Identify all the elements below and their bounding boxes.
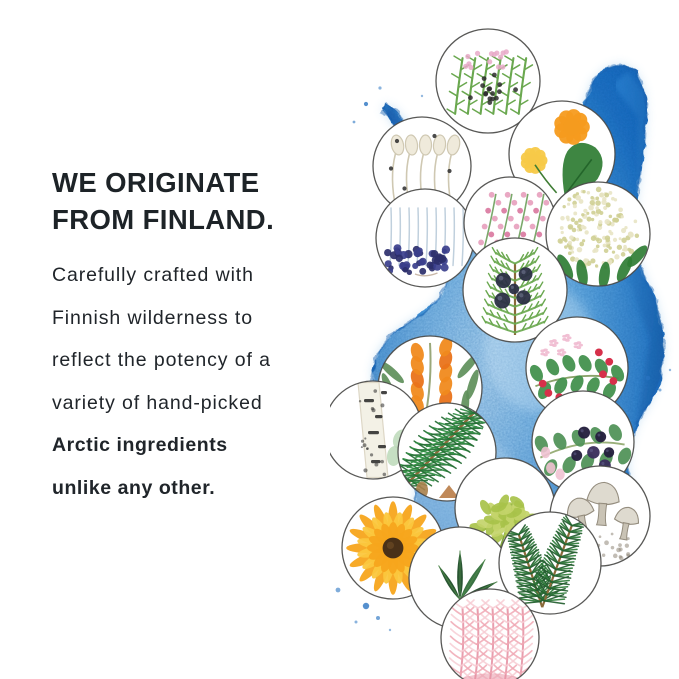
poster-canvas: WE ORIGINATE FROM FINLAND. Carefully cra… (0, 0, 679, 679)
body-line: reflect the potency of a (52, 351, 352, 371)
body-line: Arctic ingredients (52, 436, 352, 456)
medallion-bilberry-shrub: Bilberry (376, 189, 474, 287)
body-line: Finnish wilderness to (52, 309, 352, 329)
finland-map-illustration: HeatherBirch budsCloudberryBilberryWillo… (330, 18, 679, 679)
body-line: variety of hand-picked (52, 394, 352, 414)
medallion-pink-algae: Pink algae (441, 589, 539, 679)
body-copy: Carefully crafted withFinnish wilderness… (52, 266, 352, 498)
body-line: unlike any other. (52, 479, 352, 499)
text-block: WE ORIGINATE FROM FINLAND. Carefully cra… (52, 165, 352, 498)
page-title: WE ORIGINATE FROM FINLAND. (52, 165, 352, 238)
body-line: Carefully crafted with (52, 266, 352, 286)
